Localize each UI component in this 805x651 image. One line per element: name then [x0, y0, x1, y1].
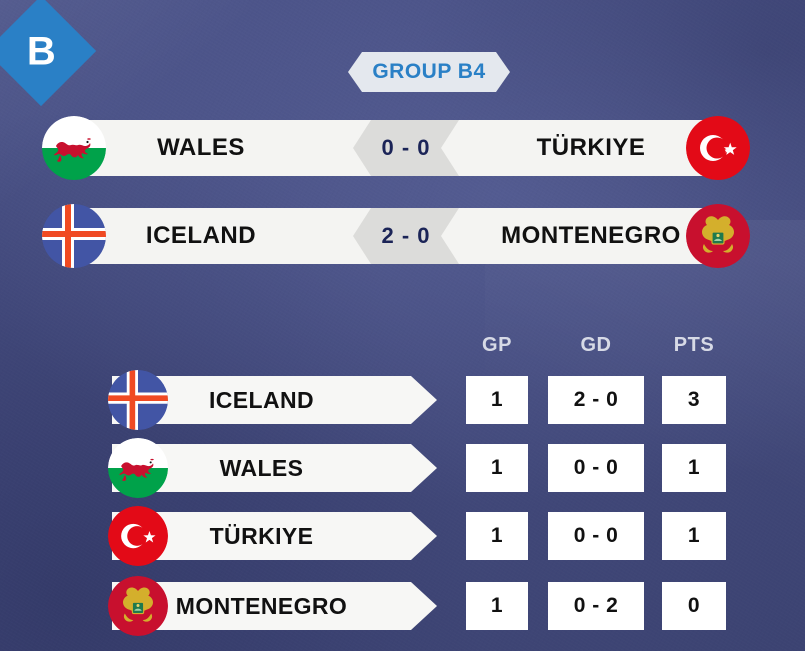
standings-gp-box: 1	[466, 512, 528, 560]
iceland-flag-icon	[108, 370, 168, 430]
standings-gp: 1	[491, 456, 503, 480]
standings-team-name: ICELAND	[209, 387, 314, 414]
group-letter: B	[27, 31, 56, 71]
standings-pts-box: 1	[662, 444, 726, 492]
standings-pts-box: 0	[662, 582, 726, 630]
standings-gp: 1	[491, 594, 503, 618]
standings-gp-box: 1	[466, 376, 528, 424]
group-banner: GROUP B4	[348, 52, 510, 92]
match-row[interactable]: WALES 0 - 0 TÜRKIYE	[60, 120, 732, 176]
turkiye-flag-icon	[108, 506, 168, 566]
standings-pts: 3	[688, 388, 700, 412]
column-header-pts: PTS	[662, 334, 726, 357]
standings-pts-box: 1	[662, 512, 726, 560]
standings-pts: 1	[688, 524, 700, 548]
match-score: 0 - 0	[381, 135, 430, 161]
column-header-gp: GP	[466, 334, 528, 357]
standings-column-headers: GP GD PTS	[0, 334, 805, 360]
standings-gd: 0 - 0	[574, 456, 619, 480]
group-label: GROUP B4	[372, 60, 485, 84]
home-team-name: WALES	[157, 134, 245, 162]
away-team-name: MONTENEGRO	[501, 222, 681, 250]
away-team-name: TÜRKIYE	[537, 134, 646, 162]
standings-gp: 1	[491, 388, 503, 412]
standings-gd-box: 0 - 2	[548, 582, 644, 630]
standings-gp: 1	[491, 524, 503, 548]
column-header-gd: GD	[548, 334, 644, 357]
standings-team-name: WALES	[220, 455, 304, 482]
standings-team-name: TÜRKIYE	[210, 523, 314, 550]
standings-gp-box: 1	[466, 582, 528, 630]
standings-row[interactable]: ICELAND 1 2 - 0 3	[0, 372, 805, 428]
standings-pts: 1	[688, 456, 700, 480]
standings-gd-box: 2 - 0	[548, 376, 644, 424]
standings-gd-box: 0 - 0	[548, 512, 644, 560]
standings-row[interactable]: TÜRKIYE 1 0 - 0 1	[0, 508, 805, 564]
turkiye-flag-icon	[686, 116, 750, 180]
standings-gd: 2 - 0	[574, 388, 619, 412]
standings-gd: 0 - 2	[574, 594, 619, 618]
match-score: 2 - 0	[381, 223, 430, 249]
montenegro-flag-icon	[108, 576, 168, 636]
home-team-name: ICELAND	[146, 222, 256, 250]
standings-row[interactable]: MONTENEGRO 1 0 - 2 0	[0, 578, 805, 634]
wales-flag-icon	[42, 116, 106, 180]
standings-row[interactable]: WALES 1 0 - 0 1	[0, 440, 805, 496]
match-row[interactable]: ICELAND 2 - 0 MONTENEGRO	[60, 208, 732, 264]
standings-pts-box: 3	[662, 376, 726, 424]
iceland-flag-icon	[42, 204, 106, 268]
montenegro-flag-icon	[686, 204, 750, 268]
standings-team-name: MONTENEGRO	[176, 593, 347, 620]
standings-pts: 0	[688, 594, 700, 618]
wales-flag-icon	[108, 438, 168, 498]
standings-gd: 0 - 0	[574, 524, 619, 548]
standings-gp-box: 1	[466, 444, 528, 492]
standings-gd-box: 0 - 0	[548, 444, 644, 492]
